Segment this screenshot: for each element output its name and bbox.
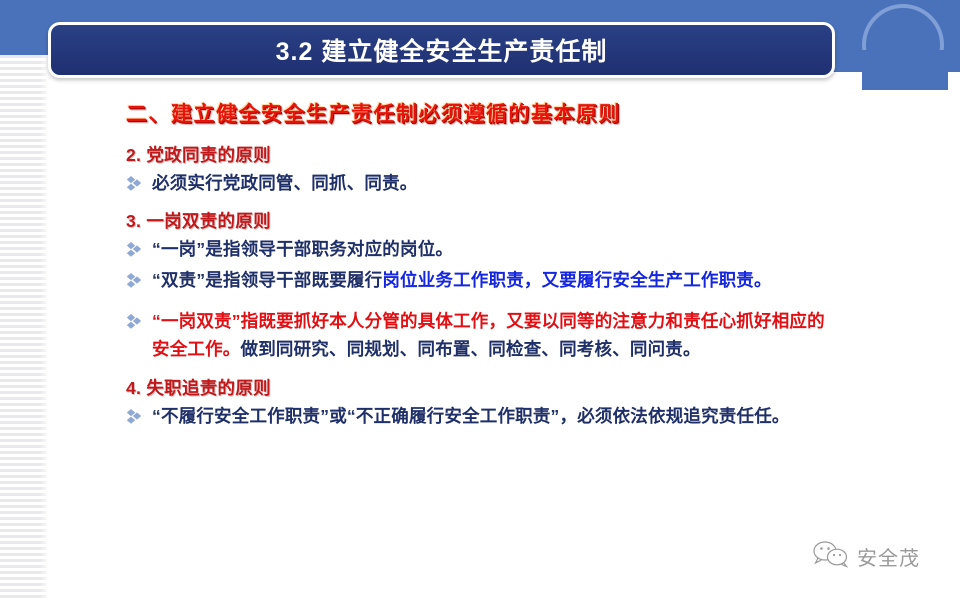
list-item-text: 必须实行党政同管、同抓、同责。 (152, 169, 838, 197)
sub-heading-4: 4. 失职追责的原则 (126, 375, 838, 400)
text-run: “不履行安全工作职责”或“不正确履行安全工作职责”，必须依法依规追究责任任。 (152, 406, 790, 426)
diamond-cluster-bullet-icon (126, 266, 152, 289)
slide-canvas: 3.2 建立健全安全生产责任制 二、建立健全安全生产责任制必须遵循的基本原则 2… (0, 0, 960, 601)
list-item: “双责”是指领导干部既要履行岗位业务工作职责，又要履行安全生产工作职责。 (126, 266, 838, 294)
text-run: 做到同研究、同规划、同布置、同检查、同考核、同问责。 (241, 339, 701, 359)
text-run-highlight: 岗位业务工作职责，又要履行安全生产工作职责。 (382, 270, 771, 290)
diamond-cluster-bullet-icon (126, 235, 152, 258)
slide-content: 二、建立健全安全生产责任制必须遵循的基本原则 2. 党政同责的原则 必须实行党政… (126, 98, 838, 432)
section-heading: 二、建立健全安全生产责任制必须遵循的基本原则 (126, 98, 838, 128)
list-item-text: “一岗双责”指既要抓好本人分管的具体工作，又要以同等的注意力和责任心抓好相应的安… (152, 307, 838, 364)
wechat-icon (812, 540, 850, 573)
text-run: “一岗”是指领导干部职务对应的岗位。 (152, 239, 453, 259)
diamond-cluster-bullet-icon (126, 402, 152, 425)
list-item-text: “一岗”是指领导干部职务对应的岗位。 (152, 235, 838, 263)
list-item-text: “双责”是指领导干部既要履行岗位业务工作职责，又要履行安全生产工作职责。 (152, 266, 838, 294)
list-item: 必须实行党政同管、同抓、同责。 (126, 169, 838, 197)
diamond-cluster-bullet-icon (126, 307, 152, 330)
page-title: 3.2 建立健全安全生产责任制 (276, 32, 608, 68)
watermark: 安全茂 (812, 540, 920, 573)
watermark-label: 安全茂 (857, 542, 920, 571)
list-item: “一岗双责”指既要抓好本人分管的具体工作，又要以同等的注意力和责任心抓好相应的安… (126, 307, 838, 364)
slide-title-bar: 3.2 建立健全安全生产责任制 (48, 22, 835, 78)
text-run: 必须实行党政同管、同抓、同责。 (152, 173, 418, 193)
list-item: “一岗”是指领导干部职务对应的岗位。 (126, 235, 838, 263)
sub-heading-3: 3. 一岗双责的原则 (126, 208, 838, 233)
sub-heading-2: 2. 党政同责的原则 (126, 142, 838, 167)
list-item-text: “不履行安全工作职责”或“不正确履行安全工作职责”，必须依法依规追究责任任。 (152, 402, 838, 430)
left-stripe-fade (40, 55, 52, 601)
text-run: “双责”是指领导干部既要履行 (152, 270, 382, 290)
diamond-cluster-bullet-icon (126, 169, 152, 192)
list-item: “不履行安全工作职责”或“不正确履行安全工作职责”，必须依法依规追究责任任。 (126, 402, 838, 430)
